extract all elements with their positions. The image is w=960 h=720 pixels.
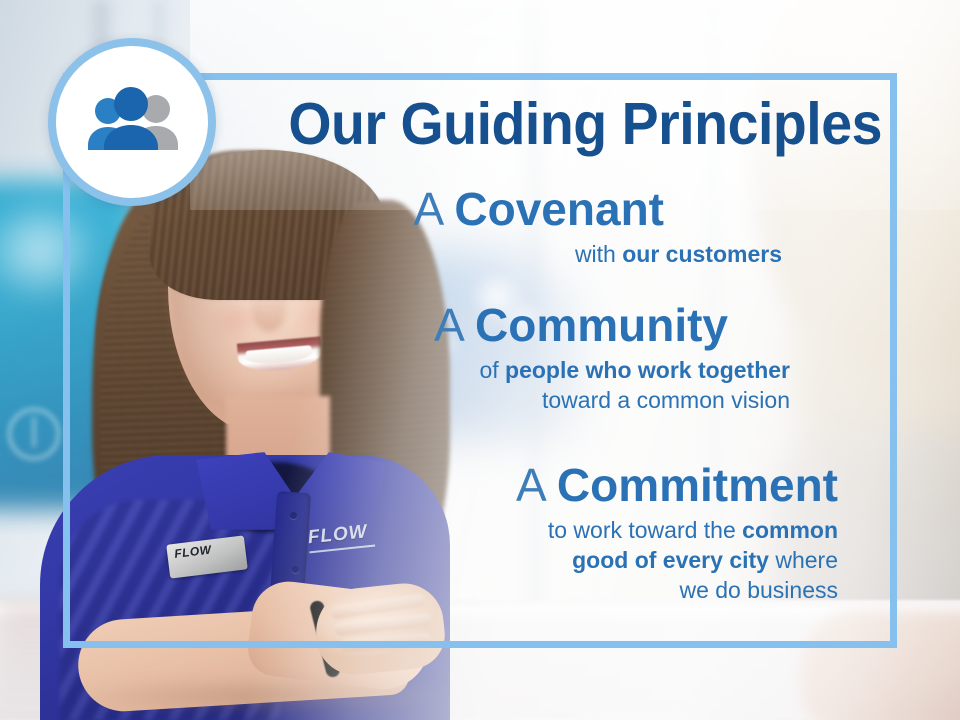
principle-covenant: A Covenant with our customers — [413, 186, 664, 270]
community-sub-bold: people who work together — [505, 357, 790, 383]
community-sub-line-2: toward a common vision — [434, 386, 790, 416]
commitment-line1-bold: common — [742, 517, 838, 543]
principle-commitment-heading: A Commitment — [516, 462, 838, 510]
principle-covenant-subtext: with our customers — [413, 240, 782, 270]
principle-community-subtext: of people who work together toward a com… — [434, 356, 790, 416]
principle-community-keyword: Community — [475, 299, 728, 351]
commitment-line2-normal: where — [769, 547, 838, 573]
community-sub-normal: of — [479, 357, 505, 383]
covenant-sub-bold: our customers — [622, 241, 782, 267]
principle-community-article: A — [434, 299, 475, 351]
commitment-sub-line-1: to work toward the common — [516, 516, 838, 546]
principle-community: A Community of people who work together … — [434, 302, 728, 416]
page-title: Our Guiding Principles — [53, 94, 882, 154]
principle-commitment: A Commitment to work toward the common g… — [516, 462, 838, 606]
principle-community-heading: A Community — [434, 302, 728, 350]
principle-commitment-keyword: Commitment — [557, 459, 838, 511]
principle-commitment-article: A — [516, 459, 557, 511]
poster-canvas: FLOW FLOW — [0, 0, 960, 720]
commitment-line2-bold: good of every city — [572, 547, 769, 573]
commitment-sub-line-3: we do business — [516, 576, 838, 606]
covenant-sub-normal: with — [575, 241, 622, 267]
commitment-sub-line-2: good of every city where — [516, 546, 838, 576]
principle-covenant-keyword: Covenant — [454, 183, 664, 235]
commitment-line1-normal: to work toward the — [548, 517, 742, 543]
principle-commitment-subtext: to work toward the common good of every … — [516, 516, 838, 606]
principle-covenant-heading: A Covenant — [413, 186, 664, 234]
principle-covenant-article: A — [413, 183, 454, 235]
community-sub-line-1: of people who work together — [434, 356, 790, 386]
